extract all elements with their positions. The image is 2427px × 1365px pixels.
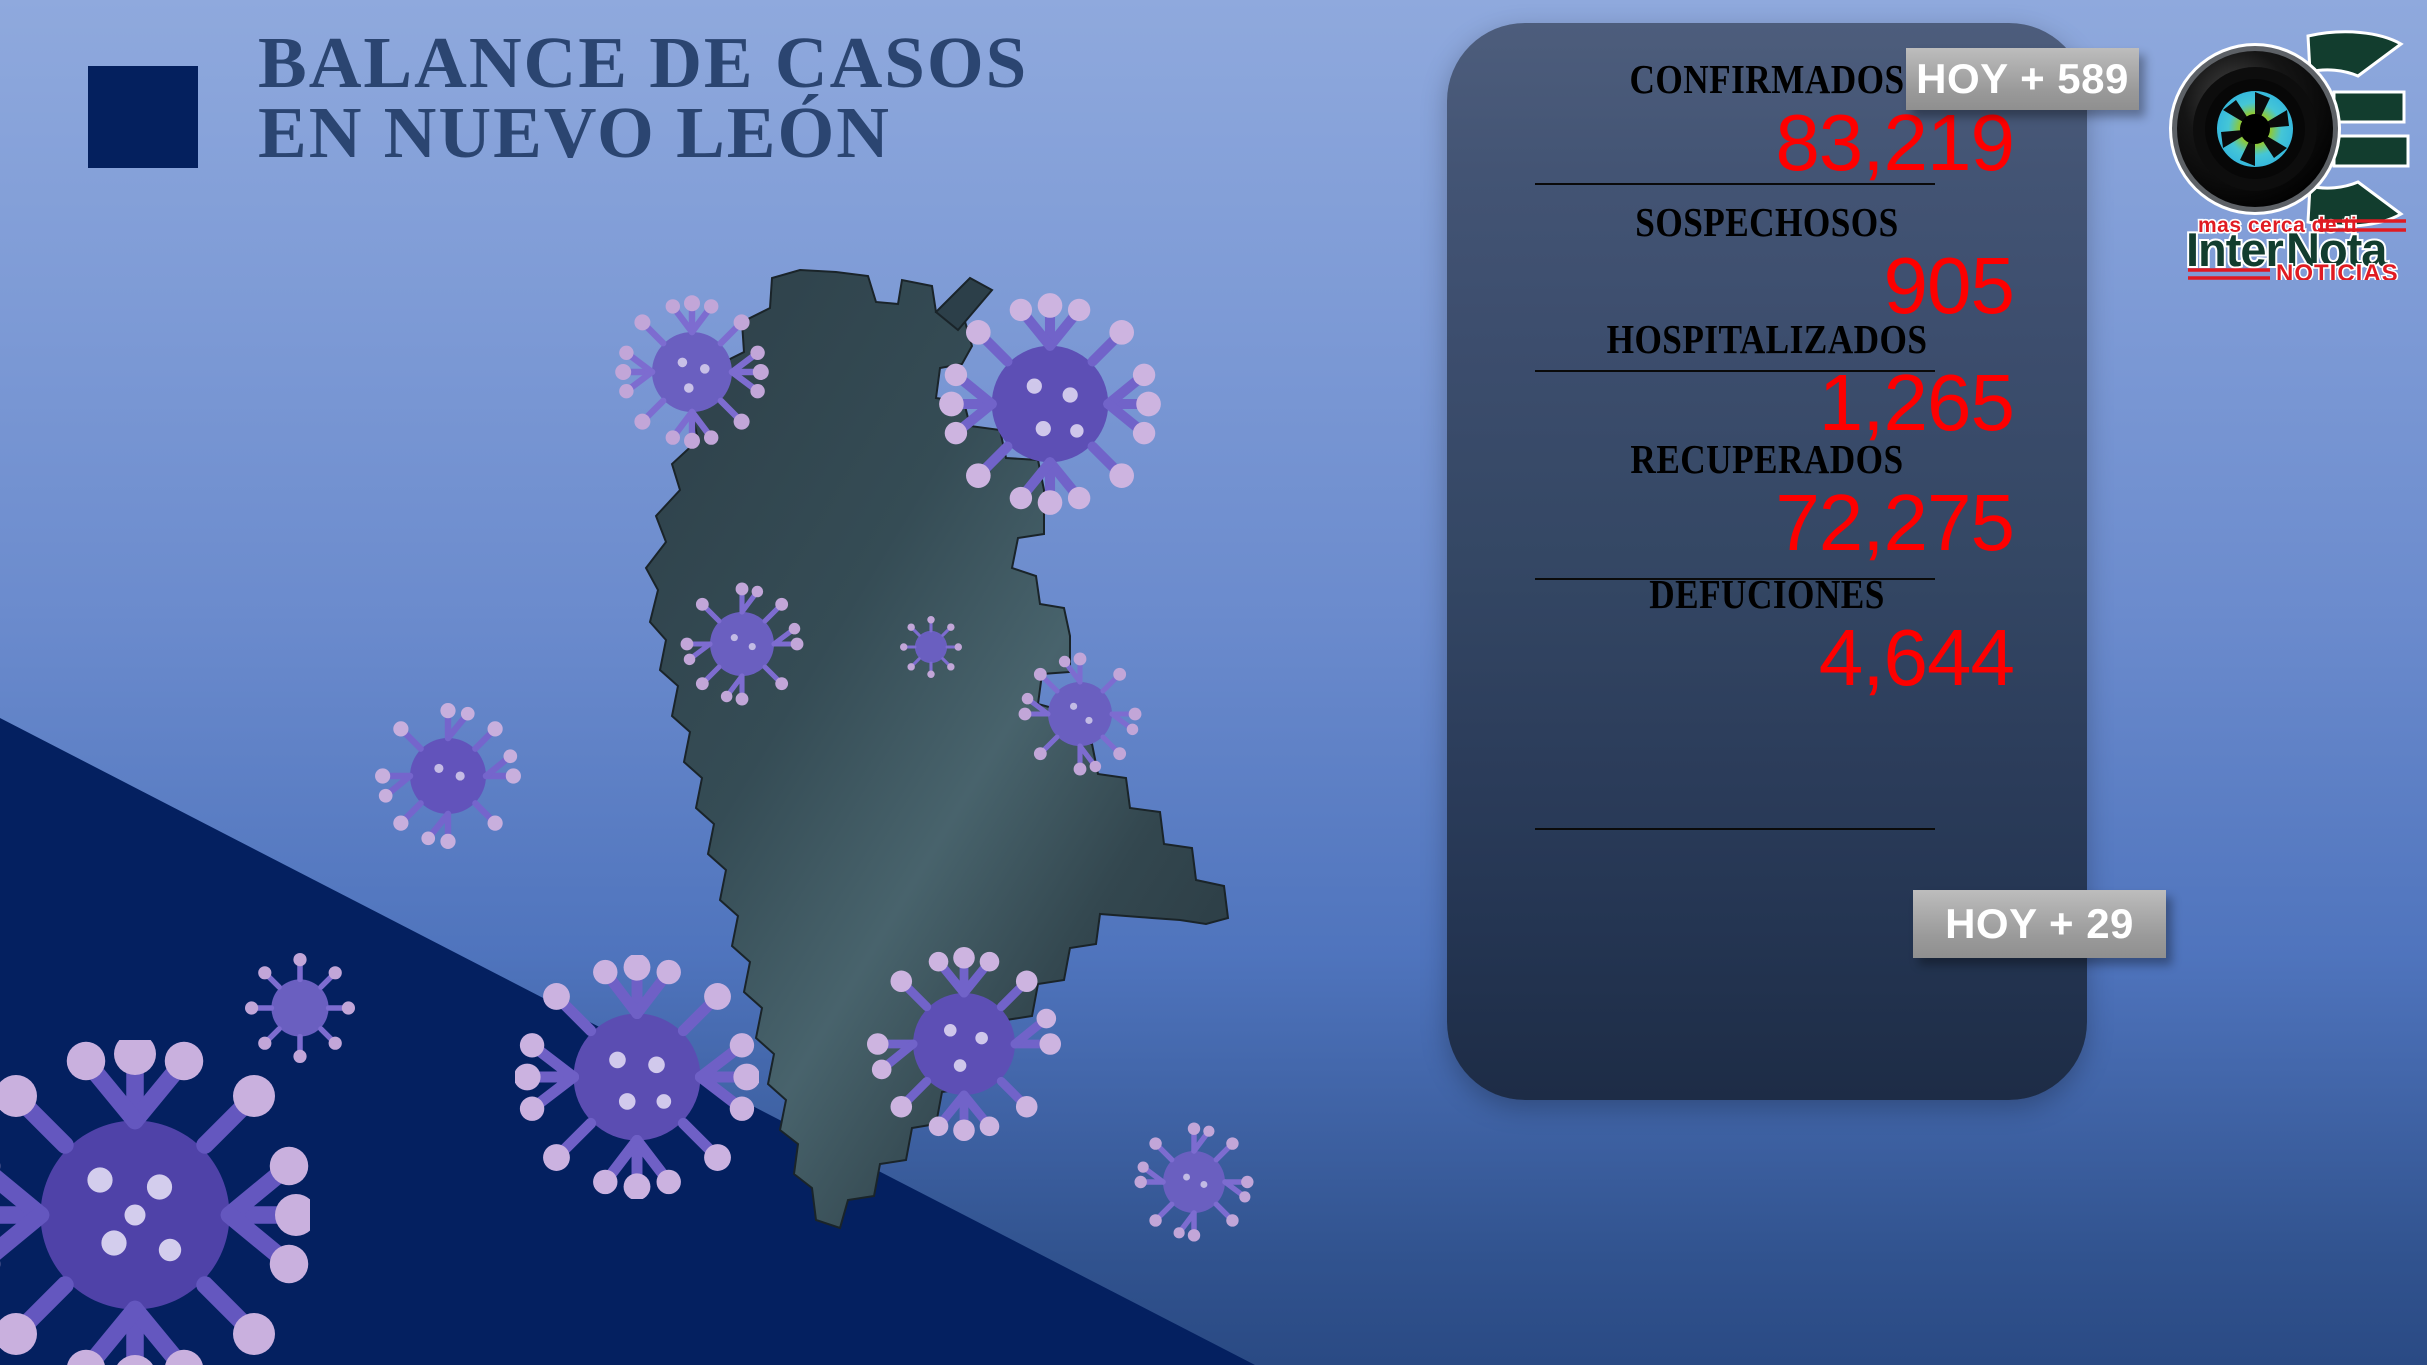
coronavirus-particle	[0, 1040, 310, 1365]
stat-divider	[1535, 183, 1935, 185]
coronavirus-particle	[1016, 650, 1144, 778]
title-accent-square	[88, 66, 198, 168]
stat-label-defuciones: DEFUCIONES	[1492, 570, 2042, 618]
stat-recuperados: RECUPERADOS 72,275	[1447, 435, 2087, 563]
stat-hospitalizados: HOSPITALIZADOS 1,265	[1447, 315, 2087, 443]
stat-value-defuciones: 4,644	[1447, 618, 2087, 698]
coronavirus-particle	[515, 955, 759, 1199]
coronavirus-particle	[866, 946, 1062, 1142]
badge-today-confirmados: HOY + 589	[1906, 48, 2139, 110]
coronavirus-particle	[900, 616, 962, 678]
stat-label-hospitalizados: HOSPITALIZADOS	[1492, 315, 2042, 363]
infographic-canvas: BALANCE DE CASOS EN NUEVO LEÓN CONFIRMAD…	[0, 0, 2427, 1365]
coronavirus-particle	[938, 292, 1162, 516]
coronavirus-particle	[1132, 1120, 1256, 1244]
page-title-line-2: EN NUEVO LEÓN	[258, 98, 1158, 168]
coronavirus-particle	[612, 292, 772, 452]
stat-value-sospechosos: 905	[1447, 246, 2087, 326]
page-title-line-1: BALANCE DE CASOS	[258, 28, 1158, 98]
stat-sospechosos: SOSPECHOSOS 905	[1447, 198, 2087, 326]
stat-label-recuperados: RECUPERADOS	[1492, 435, 2042, 483]
page-title: BALANCE DE CASOS EN NUEVO LEÓN	[258, 28, 1158, 168]
coronavirus-particle	[372, 700, 524, 852]
logo-wordmark: Inter	[2186, 223, 2284, 276]
badge-today-defuciones: HOY + 29	[1913, 890, 2166, 958]
stat-divider	[1535, 828, 1935, 830]
stat-value-hospitalizados: 1,265	[1447, 363, 2087, 443]
stat-value-recuperados: 72,275	[1447, 483, 2087, 563]
stat-value-confirmados: 83,219	[1447, 103, 2087, 183]
stat-defuciones: DEFUCIONES 4,644	[1447, 570, 2087, 698]
logo-subtitle: NOTICIAS	[2276, 260, 2399, 280]
stat-label-sospechosos: SOSPECHOSOS	[1492, 198, 2042, 246]
coronavirus-particle	[678, 580, 806, 708]
internota-logo[interactable]: mas cerca de ti Inter Nota NOTICIAS	[2158, 18, 2414, 280]
